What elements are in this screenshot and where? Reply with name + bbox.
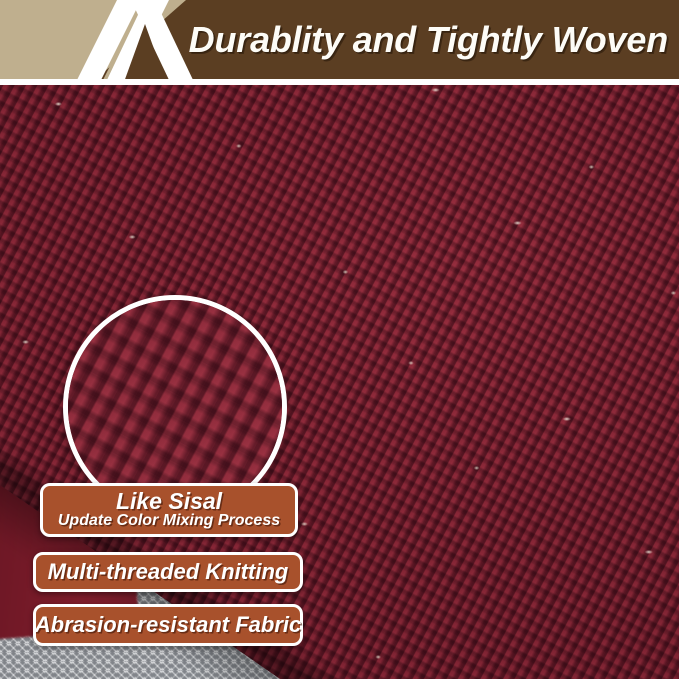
callout-multi-threaded-knitting[interactable]: Multi-threaded Knitting [33,552,303,592]
m-mountain-logo-icon [62,0,194,79]
page-title: Durablity and Tightly Woven [196,0,674,79]
callout-like-sisal-title: Like Sisal [116,490,222,514]
product-feature-image: Durablity and Tightly Woven Like Sisal U… [0,0,679,679]
brand-logo [62,0,194,79]
callout-abrasion-resistant-fabric[interactable]: Abrasion-resistant Fabric [33,604,303,646]
callout-abrasion-resistant-fabric-title: Abrasion-resistant Fabric [35,613,302,636]
callout-like-sisal-subtitle: Update Color Mixing Process [58,513,280,530]
callout-multi-threaded-knitting-title: Multi-threaded Knitting [48,560,289,583]
header-banner: Durablity and Tightly Woven [0,0,679,79]
callout-like-sisal[interactable]: Like Sisal Update Color Mixing Process [40,483,298,537]
